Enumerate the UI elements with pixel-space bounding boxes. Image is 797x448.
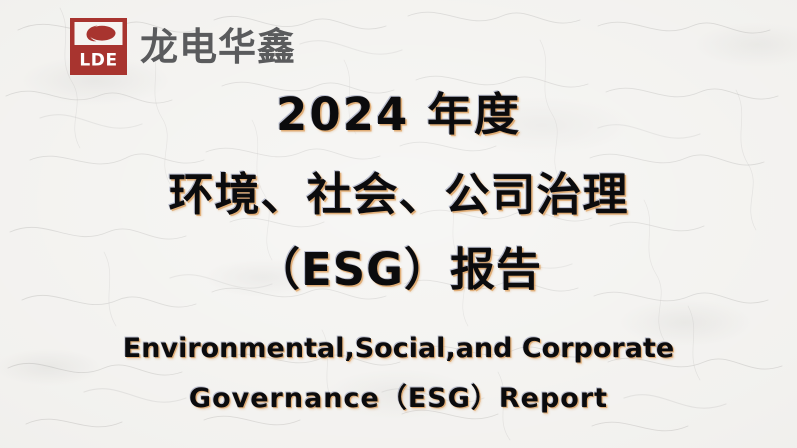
title-topic-line: 环境、社会、公司治理 (0, 164, 797, 226)
subtitle-line-1: Environmental,Social,and Corporate (0, 330, 797, 368)
report-cover-page: LDE 龙电华鑫 2024 年度 环境、社会、公司治理 （ESG）报告 Envi… (0, 0, 797, 448)
company-logo: LDE 龙电华鑫 (70, 18, 296, 75)
lde-logo-icon: LDE (70, 18, 127, 75)
company-name-wordmark: 龙电华鑫 (140, 28, 296, 66)
cover-subtitle-block: Environmental,Social,and Corporate Gover… (0, 330, 797, 418)
svg-text:LDE: LDE (79, 51, 117, 71)
title-year-line: 2024 年度 (0, 84, 797, 146)
cover-title-block: 2024 年度 环境、社会、公司治理 （ESG）报告 (0, 84, 797, 301)
title-report-line: （ESG）报告 (0, 239, 797, 301)
subtitle-line-2: Governance（ESG）Report (0, 380, 797, 418)
